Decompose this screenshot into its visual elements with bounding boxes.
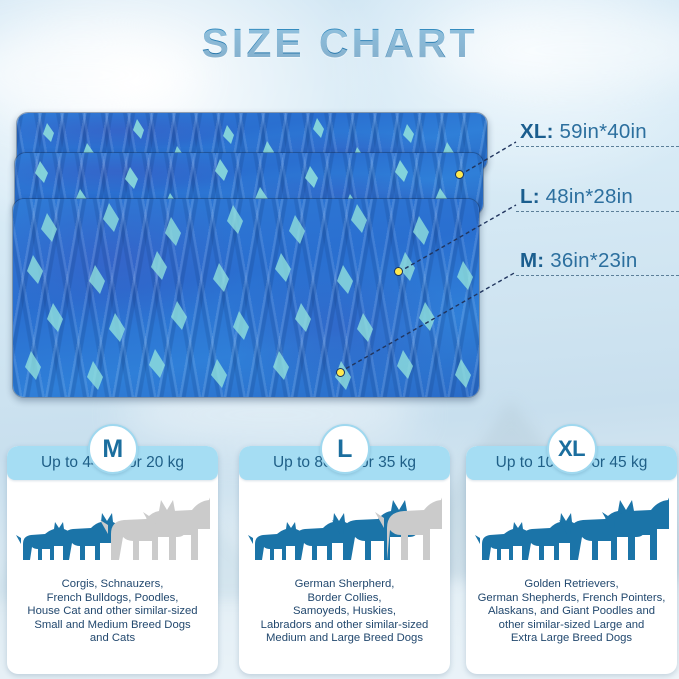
size-card-l[interactable]: L Up to 80 lbs or 35 kg German Sherpherd… bbox=[239, 424, 450, 674]
size-card-m[interactable]: M Up to 44 lbs or 20 kg Corgis, Schnauze… bbox=[7, 424, 218, 674]
size-badge-xl: XL bbox=[547, 424, 597, 474]
desc-line: and Cats bbox=[13, 632, 212, 646]
size-card-xl[interactable]: XL Up to 100 lbs or 45 kg Golden Retriev… bbox=[466, 424, 677, 674]
dog-silhouettes-m bbox=[15, 494, 210, 574]
dog-small-cat-icon bbox=[248, 522, 303, 560]
desc-line: Border Collies, bbox=[245, 592, 444, 606]
desc-line: Alaskans, and Giant Poodles and bbox=[472, 605, 671, 619]
callout-dot-l[interactable] bbox=[394, 267, 403, 276]
desc-line: German Shepherds, French Pointers, bbox=[472, 592, 671, 606]
size-card-xl-body: Up to 100 lbs or 45 kg Golden Retrievers… bbox=[466, 446, 677, 674]
callout-dims-xl: 59in*40in bbox=[560, 120, 647, 143]
callout-label-m: M: 36in*23in bbox=[520, 249, 638, 273]
desc-line: Medium and Large Breed Dogs bbox=[245, 632, 444, 646]
dog-silhouettes-l bbox=[247, 494, 442, 574]
desc-line: Corgis, Schnauzers, bbox=[13, 578, 212, 592]
callout-dims-m: 36in*23in bbox=[550, 249, 637, 272]
dog-small-cat-icon bbox=[16, 522, 71, 560]
callout-size-xl: XL: bbox=[520, 120, 554, 143]
callout-label-l: L: 48in*28in bbox=[520, 185, 633, 209]
breed-description-m: Corgis, Schnauzers, French Bulldogs, Poo… bbox=[13, 578, 212, 646]
page-title: SIZE CHART bbox=[0, 20, 679, 67]
desc-line: Labradors and other similar-sized bbox=[245, 619, 444, 633]
desc-line: House Cat and other similar-sized bbox=[13, 605, 212, 619]
desc-line: other similar-sized Large and bbox=[472, 619, 671, 633]
size-cards: M Up to 44 lbs or 20 kg Corgis, Schnauze… bbox=[0, 424, 679, 679]
callout-dot-m[interactable] bbox=[336, 368, 345, 377]
dog-small-cat-icon bbox=[475, 522, 530, 560]
size-card-l-body: Up to 80 lbs or 35 kg German Sherpherd, … bbox=[239, 446, 450, 674]
callout-size-l: L: bbox=[520, 185, 540, 208]
desc-line: Small and Medium Breed Dogs bbox=[13, 619, 212, 633]
breed-description-l: German Sherpherd, Border Collies, Samoye… bbox=[245, 578, 444, 646]
callout-label-xl: XL: 59in*40in bbox=[520, 120, 647, 144]
mat-m-shark-pattern bbox=[13, 199, 479, 397]
callout-dot-xl[interactable] bbox=[455, 170, 464, 179]
desc-line: Extra Large Breed Dogs bbox=[472, 632, 671, 646]
size-badge-l: L bbox=[320, 424, 370, 474]
callout-size-m: M: bbox=[520, 249, 544, 272]
breed-description-xl: Golden Retrievers, German Shepherds, Fre… bbox=[472, 578, 671, 646]
mat-m bbox=[12, 198, 480, 398]
desc-line: French Bulldogs, Poodles, bbox=[13, 592, 212, 606]
desc-line: German Sherpherd, bbox=[245, 578, 444, 592]
desc-line: Golden Retrievers, bbox=[472, 578, 671, 592]
size-badge-m: M bbox=[88, 424, 138, 474]
desc-line: Samoyeds, Huskies, bbox=[245, 605, 444, 619]
callout-dims-l: 48in*28in bbox=[546, 185, 633, 208]
dog-silhouettes-xl bbox=[474, 494, 669, 574]
product-image-mat-stack bbox=[12, 110, 490, 400]
size-card-m-body: Up to 44 lbs or 20 kg Corgis, Schnauzers… bbox=[7, 446, 218, 674]
